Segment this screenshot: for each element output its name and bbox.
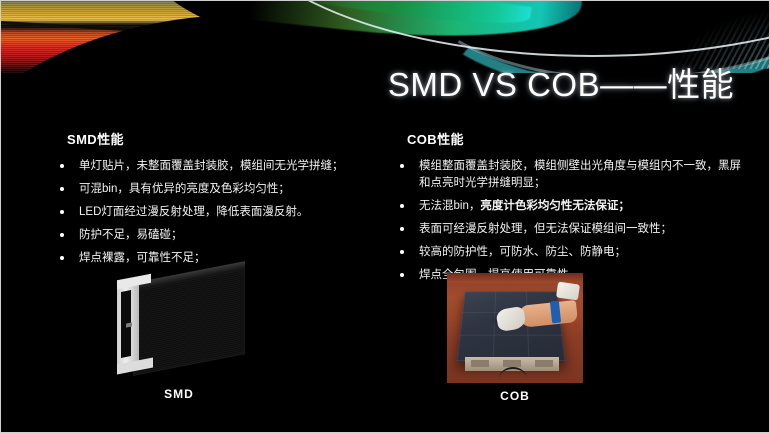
bullet-dot-icon bbox=[60, 210, 64, 214]
cob-tissue-pack bbox=[556, 282, 580, 301]
bullet-dot-icon bbox=[60, 187, 64, 191]
bullet-dot-icon bbox=[60, 256, 64, 260]
cob-edge-segment bbox=[503, 360, 521, 367]
bullet-dot-icon bbox=[400, 227, 404, 231]
cob-caption: COB bbox=[447, 389, 583, 403]
bullet-dot-icon bbox=[400, 250, 404, 254]
smd-bullet-1: 单灯贴片，未整面覆盖封装胶，模组间无光学拼缝； bbox=[79, 160, 344, 172]
list-item: 表面可经漫反射处理，但无法保证模组间一致性； bbox=[393, 221, 743, 238]
bullet-dot-icon bbox=[60, 164, 64, 168]
cob-hand bbox=[518, 300, 578, 328]
column-smd: SMD性能 单灯贴片，未整面覆盖封装胶，模组间无光学拼缝； 可混bin，具有优异… bbox=[53, 129, 393, 273]
bullet-dot-icon bbox=[400, 164, 404, 168]
smd-bullet-5: 焊点裸露，可靠性不足； bbox=[79, 252, 206, 264]
smd-caption: SMD bbox=[105, 387, 253, 401]
smd-bullet-4: 防护不足，易磕碰； bbox=[79, 229, 183, 241]
smd-bullet-3: LED灯面经过漫反射处理，降低表面漫反射。 bbox=[79, 206, 308, 218]
cob-bullet-3: 表面可经漫反射处理，但无法保证模组间一致性； bbox=[419, 223, 672, 235]
cob-bullet-2-plain: 无法混bin， bbox=[419, 200, 480, 212]
cob-heading: COB性能 bbox=[407, 129, 743, 148]
cob-bullet-1: 模组整面覆盖封装胶，模组侧壁出光角度与模组内不一致，黑屏和点亮时光学拼缝明显； bbox=[419, 160, 741, 189]
slide-title: SMD VS COB——性能 bbox=[371, 58, 751, 106]
cob-panel-photo bbox=[447, 273, 583, 383]
smd-bullet-list: 单灯贴片，未整面覆盖封装胶，模组间无光学拼缝； 可混bin，具有优异的亮度及色彩… bbox=[53, 158, 393, 267]
list-item: LED灯面经过漫反射处理，降低表面漫反射。 bbox=[53, 204, 393, 221]
smd-panel-image bbox=[105, 273, 253, 381]
bullet-dot-icon bbox=[60, 233, 64, 237]
smd-figure: SMD bbox=[105, 273, 253, 401]
cob-edge-segment bbox=[535, 360, 553, 367]
list-item: 无法混bin，亮度计色彩均匀性无法保证； bbox=[393, 198, 743, 215]
column-cob: COB性能 模组整面覆盖封装胶，模组侧壁出光角度与模组内不一致，黑屏和点亮时光学… bbox=[393, 129, 743, 290]
cob-edge-segment bbox=[471, 360, 489, 367]
list-item: 防护不足，易磕碰； bbox=[53, 227, 393, 244]
smd-heading: SMD性能 bbox=[67, 129, 393, 148]
list-item: 单灯贴片，未整面覆盖封装胶，模组间无光学拼缝； bbox=[53, 158, 393, 175]
cob-bullet-list: 模组整面覆盖封装胶，模组侧壁出光角度与模组内不一致，黑屏和点亮时光学拼缝明显； … bbox=[393, 158, 743, 284]
slide: SMD VS COB——性能 SMD性能 单灯贴片，未整面覆盖封装胶，模组间无光… bbox=[0, 0, 770, 433]
list-item: 较高的防护性，可防水、防尘、防静电； bbox=[393, 244, 743, 261]
bullet-dot-icon bbox=[400, 204, 404, 208]
bullet-dot-icon bbox=[400, 273, 404, 277]
cob-bullet-4: 较高的防护性，可防水、防尘、防静电； bbox=[419, 246, 626, 258]
smd-bullet-2: 可混bin，具有优异的亮度及色彩均匀性； bbox=[79, 183, 290, 195]
cob-bullet-2-emphasis: 亮度计色彩均匀性无法保证； bbox=[480, 200, 630, 212]
list-item: 模组整面覆盖封装胶，模组侧壁出光角度与模组内不一致，黑屏和点亮时光学拼缝明显； bbox=[393, 158, 743, 192]
list-item: 可混bin，具有优异的亮度及色彩均匀性； bbox=[53, 181, 393, 198]
cob-figure: COB bbox=[447, 273, 583, 403]
